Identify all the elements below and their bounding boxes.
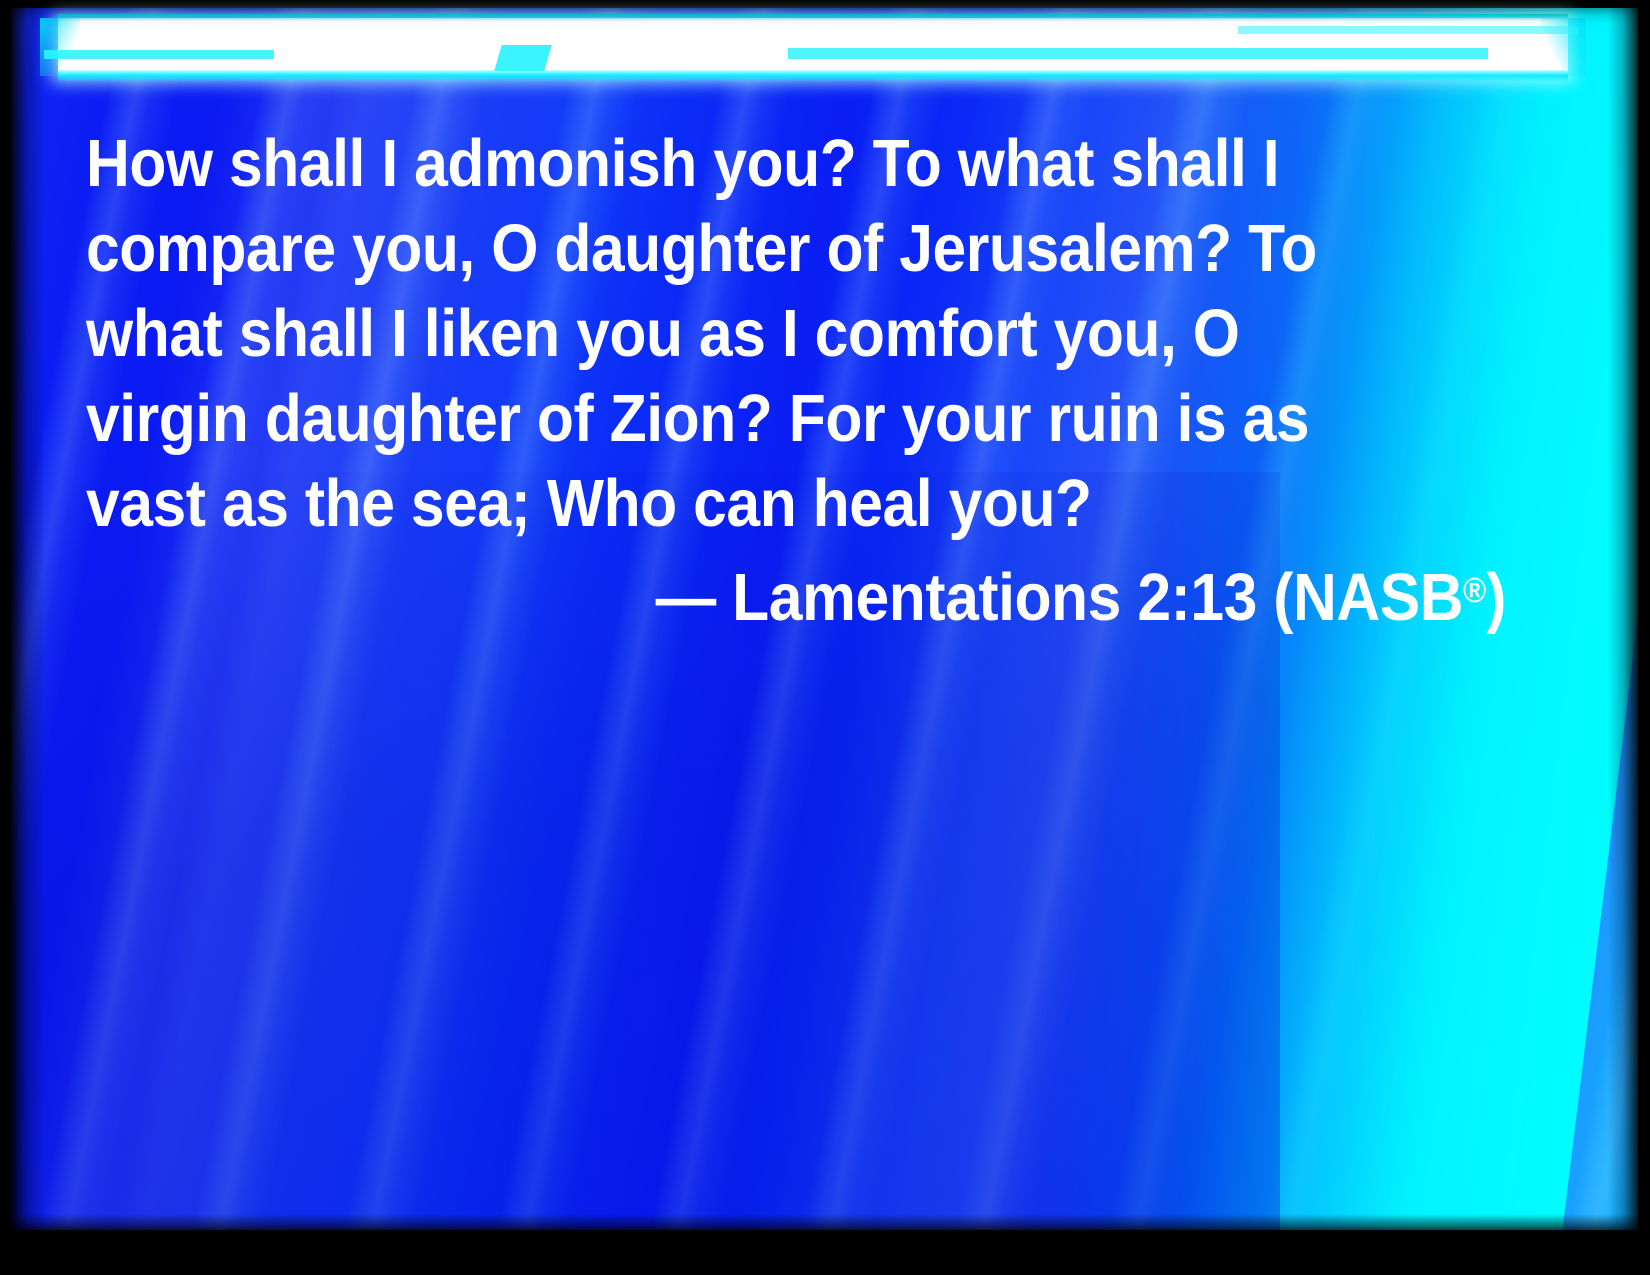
banner-bottom-glow [58,70,1568,82]
banner-streak-3 [788,48,1488,59]
verse-line-1: How shall I admonish you? To what shall … [86,121,1371,206]
scripture-citation: — Lamentations 2:13 (NASB®) [221,546,1506,640]
banner-streak-2 [494,45,551,71]
background-rim-left [11,8,45,1230]
background-rim-right [1608,8,1638,1230]
citation-translation-open: (NASB [1273,560,1463,635]
verse-line-5: vast as the sea; Who can heal you? [86,461,1371,546]
background-rim-bottom [11,1214,1638,1230]
banner-streak-1 [44,50,274,59]
citation-book: Lamentations [732,560,1121,635]
verse-line-3: what shall I liken you as I comfort you,… [86,291,1371,376]
verse-line-2: compare you, O daughter of Jerusalem? To [86,206,1371,291]
verse-line-4: virgin daughter of Zion? For your ruin i… [86,376,1371,461]
banner-top-glow [58,14,1568,21]
slide-frame: How shall I admonish you? To what shall … [0,0,1650,1275]
registered-trademark-icon: ® [1463,571,1486,610]
top-decorative-banner [58,18,1568,76]
citation-dash: — [656,560,716,635]
verse-text-block: How shall I admonish you? To what shall … [86,121,1506,640]
banner-streak-4 [1238,26,1578,34]
citation-translation-close: ) [1486,560,1506,635]
banner-left-bevel [40,18,80,76]
citation-reference: 2:13 [1137,560,1257,635]
